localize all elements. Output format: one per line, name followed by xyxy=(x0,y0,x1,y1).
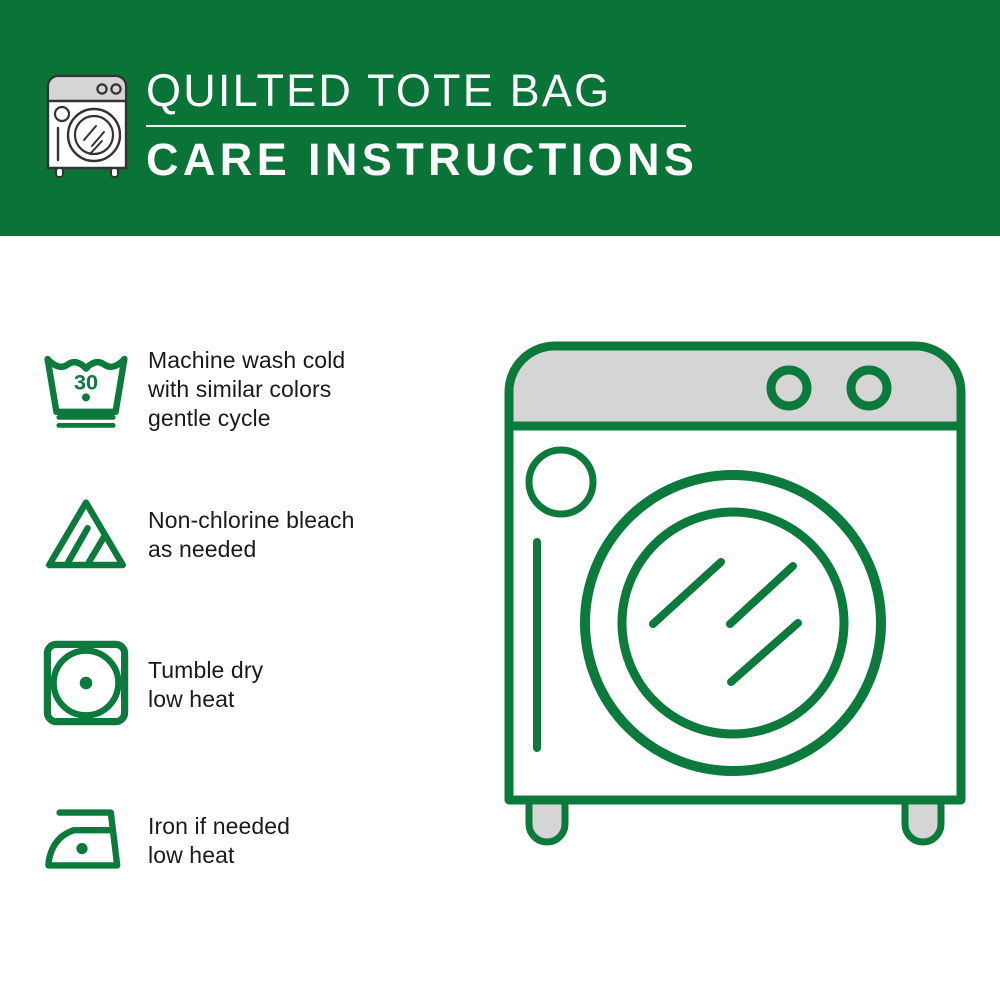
title-divider xyxy=(146,125,686,127)
care-item-wash: 30 Machine wash cold with similar colors… xyxy=(0,332,470,442)
care-item-bleach-text: Non-chlorine bleach as needed xyxy=(130,478,354,564)
care-text-line: gentle cycle xyxy=(148,404,345,433)
header-title-block: QUILTED TOTE BAG CARE INSTRUCTIONS xyxy=(146,66,706,186)
bleach-triangle-icon xyxy=(0,478,130,588)
washing-machine-illustration xyxy=(493,330,983,940)
washing-machine-logo-icon xyxy=(44,72,130,180)
page-title-subject: CARE INSTRUCTIONS xyxy=(146,134,706,186)
wash-temperature-label: 30 xyxy=(74,369,98,394)
care-text-line: with similar colors xyxy=(148,375,345,404)
leg-left xyxy=(529,798,565,842)
page-title-product: QUILTED TOTE BAG xyxy=(146,66,706,116)
care-text-line: Iron if needed xyxy=(148,812,290,841)
care-item-iron: Iron if needed low heat xyxy=(0,784,470,894)
care-text-line: Machine wash cold xyxy=(148,346,345,375)
care-text-line: as needed xyxy=(148,535,354,564)
care-text-line: Tumble dry xyxy=(148,656,263,685)
care-item-tumble-dry: Tumble dry low heat xyxy=(0,628,470,738)
iron-icon xyxy=(0,784,130,894)
care-item-bleach: Non-chlorine bleach as needed xyxy=(0,478,470,588)
care-item-tumble-dry-text: Tumble dry low heat xyxy=(130,628,263,714)
care-item-wash-text: Machine wash cold with similar colors ge… xyxy=(130,332,345,433)
care-instructions-list: 30 Machine wash cold with similar colors… xyxy=(0,236,470,1000)
wash-tub-icon: 30 xyxy=(0,332,130,442)
tumble-dry-icon xyxy=(0,628,130,738)
care-text-line: low heat xyxy=(148,685,263,714)
care-text-line: Non-chlorine bleach xyxy=(148,506,354,535)
care-item-iron-text: Iron if needed low heat xyxy=(130,784,290,870)
leg-right xyxy=(905,798,941,842)
care-text-line: low heat xyxy=(148,841,290,870)
header-banner: QUILTED TOTE BAG CARE INSTRUCTIONS xyxy=(0,0,1000,236)
